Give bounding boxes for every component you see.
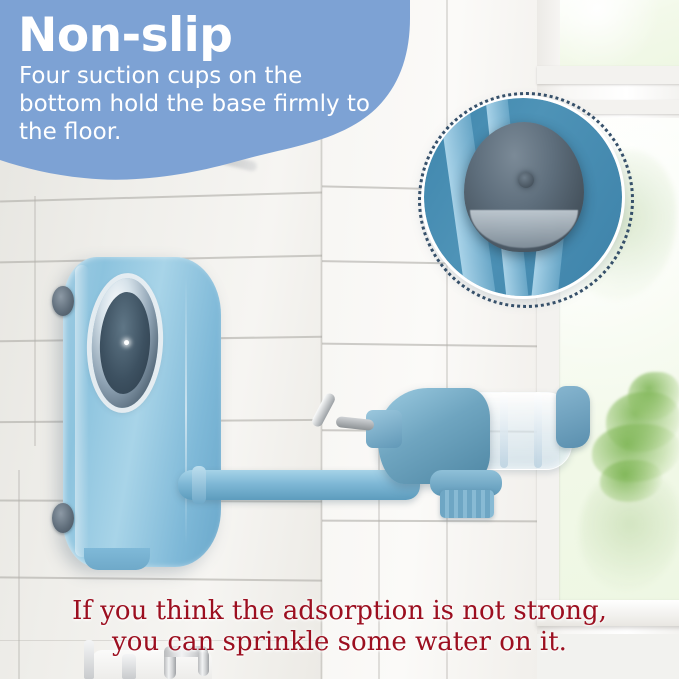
bottom-caption: If you think the adsorption is not stron…: [0, 596, 679, 658]
caption-line-1: If you think the adsorption is not stron…: [72, 596, 607, 626]
product-infographic: Non-slip Four suction cups on the bottom…: [0, 0, 679, 679]
suction-cup-top: [52, 286, 74, 316]
bottle-ring: [500, 392, 508, 468]
arm-collar: [192, 466, 206, 504]
support-arm: [178, 470, 420, 500]
bottle-tail-clip: [556, 386, 590, 448]
suction-cup-magnified-detail: [424, 98, 622, 296]
window-pane-top: [560, 0, 679, 68]
holder-foot: [84, 548, 150, 570]
holder-edge-highlight: [75, 265, 89, 557]
headline-banner: Non-slip Four suction cups on the bottom…: [0, 0, 410, 186]
holder-seam: [185, 277, 187, 545]
banner-subline: Four suction cups on the bottom hold the…: [19, 62, 379, 146]
bottle-ring: [534, 392, 542, 468]
caption-line-2: you can sprinkle some water on it.: [0, 627, 679, 658]
suction-cup-bottom: [52, 503, 74, 533]
banner-headline: Non-slip: [18, 8, 232, 63]
valve-nut: [440, 490, 494, 518]
window-mullion: [537, 66, 679, 84]
suction-cup-center-nub: [518, 172, 534, 188]
grout-line-vertical: [34, 196, 36, 446]
